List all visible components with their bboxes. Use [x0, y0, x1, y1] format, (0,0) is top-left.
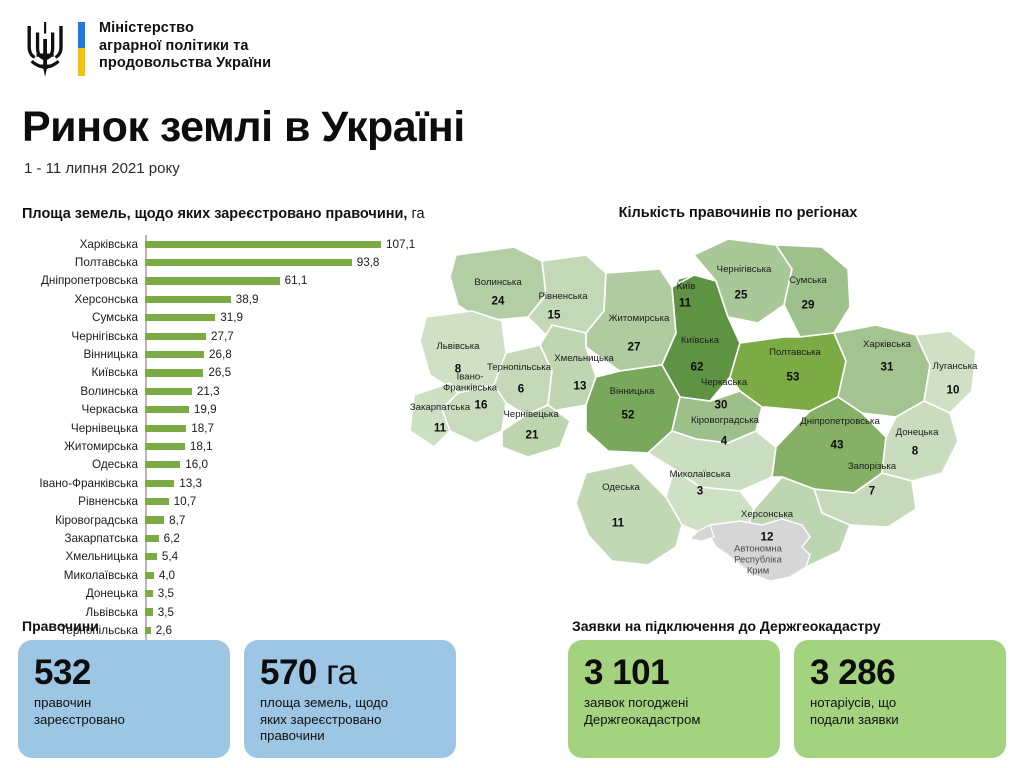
- approved-desc-2: Держгеокадастром: [584, 712, 764, 729]
- page-subtitle: 1 - 11 липня 2021 року: [24, 160, 180, 177]
- approved-desc-1: заявок погоджені: [584, 695, 764, 712]
- bar-row: Сумська31,9: [22, 309, 452, 327]
- bar-fill: [145, 369, 203, 376]
- bar-category-label: Харківська: [22, 238, 145, 251]
- bar-fill: [145, 480, 174, 487]
- deals-area-desc-1: площа земель, щодо: [260, 695, 440, 712]
- bar-fill: [145, 498, 169, 505]
- bar-track: 27,7: [145, 327, 452, 345]
- bar-value-label: 8,7: [169, 514, 185, 527]
- region-Сумська[interactable]: [776, 245, 850, 337]
- stat-card-deals-count-desc: правочин зареєстровано: [34, 695, 214, 728]
- bar-value-label: 19,9: [194, 403, 217, 416]
- bar-track: 18,1: [145, 437, 452, 455]
- bar-value-label: 27,7: [211, 330, 234, 343]
- bar-fill: [145, 535, 159, 542]
- bar-row: Київська26,5: [22, 364, 452, 382]
- region-Чернівецька[interactable]: [502, 405, 570, 457]
- crimea-line-1: Автономна: [734, 543, 782, 554]
- bar-track: 93,8: [145, 253, 452, 271]
- deals-area-number: 570: [260, 653, 317, 692]
- deals-area-desc-3: правочини: [260, 728, 440, 745]
- bar-track: 8,7: [145, 511, 452, 529]
- bar-category-label: Сумська: [22, 311, 145, 324]
- bar-value-label: 3,5: [158, 606, 174, 619]
- ministry-line-2: аграрної політики та: [99, 38, 271, 56]
- notaries-desc-2: подали заявки: [810, 712, 990, 729]
- region-Львівська[interactable]: [420, 311, 506, 393]
- bar-value-label: 18,7: [191, 422, 214, 435]
- bar-value-label: 93,8: [357, 256, 380, 269]
- bar-value-label: 26,8: [209, 348, 232, 361]
- bar-fill: [145, 461, 180, 468]
- bar-category-label: Херсонська: [22, 293, 145, 306]
- ukraine-trident-icon: [22, 20, 68, 78]
- bar-fill: [145, 314, 215, 321]
- bar-row: Чернігівська27,7: [22, 327, 452, 345]
- bar-category-label: Закарпатська: [22, 532, 145, 545]
- stat-card-approved-requests-desc: заявок погоджені Держгеокадастром: [584, 695, 764, 728]
- bar-track: 3,5: [145, 584, 452, 602]
- stat-card-deals-area-number: 570 га: [260, 654, 440, 692]
- bar-value-label: 31,9: [220, 311, 243, 324]
- deals-area-desc-2: яких зареєстровано: [260, 712, 440, 729]
- bar-value-label: 16,0: [185, 458, 208, 471]
- bar-category-label: Київська: [22, 366, 145, 379]
- bar-row: Херсонська38,9: [22, 290, 452, 308]
- bar-row: Харківська107,1: [22, 235, 452, 253]
- bar-track: 18,7: [145, 419, 452, 437]
- stat-card-approved-requests-number: 3 101: [584, 654, 764, 692]
- ukraine-choropleth-map: Автономна Республіка Крим Волинська24Рів…: [410, 225, 976, 615]
- bar-value-label: 21,3: [197, 385, 220, 398]
- bar-track: 5,4: [145, 548, 452, 566]
- bar-track: 38,9: [145, 290, 452, 308]
- bar-row: Дніпропетровська61,1: [22, 272, 452, 290]
- bar-category-label: Черкаська: [22, 403, 145, 416]
- bar-chart-heading-bold: Площа земель, щодо яких зареєстровано пр…: [22, 206, 407, 222]
- bar-category-label: Вінницька: [22, 348, 145, 361]
- bar-category-label: Дніпропетровська: [22, 274, 145, 287]
- ministry-line-1: Міністерство: [99, 20, 271, 38]
- cadastre-summary-cards: 3 101 заявок погоджені Держгеокадастром …: [568, 640, 1008, 758]
- bar-fill: [145, 277, 280, 284]
- bar-chart-heading: Площа земель, щодо яких зареєстровано пр…: [22, 205, 452, 223]
- bar-row: Миколаївська4,0: [22, 566, 452, 584]
- bar-fill: [145, 608, 153, 615]
- stat-card-notaries-desc: нотаріусів, що подали заявки: [810, 695, 990, 728]
- bar-category-label: Кіровоградська: [22, 514, 145, 527]
- bar-category-label: Львівська: [22, 606, 145, 619]
- bar-track: 19,9: [145, 401, 452, 419]
- bar-row: Рівненська10,7: [22, 492, 452, 510]
- ministry-name: Міністерство аграрної політики та продов…: [99, 20, 271, 73]
- deals-summary-cards: 532 правочин зареєстровано 570 га площа …: [18, 640, 488, 758]
- page-title: Ринок землі в Україні: [22, 103, 465, 152]
- bar-row: Волинська21,3: [22, 382, 452, 400]
- bar-category-label: Чернівецька: [22, 422, 145, 435]
- ukraine-flag-bar-icon: [78, 22, 85, 76]
- bar-row: Полтавська93,8: [22, 253, 452, 271]
- bar-track: 6,2: [145, 529, 452, 547]
- bar-fill: [145, 572, 154, 579]
- bar-value-label: 13,3: [179, 477, 202, 490]
- deals-count-desc-2: зареєстровано: [34, 712, 214, 729]
- bar-track: 4,0: [145, 566, 452, 584]
- crimea-line-3: Крим: [734, 565, 782, 576]
- bar-track: 31,9: [145, 309, 452, 327]
- stat-card-deals-count-number: 532: [34, 654, 214, 692]
- cadastre-summary-heading: Заявки на підключення до Держгеокадастру: [568, 618, 1008, 634]
- bar-row: Одеська16,0: [22, 456, 452, 474]
- bar-value-label: 6,2: [164, 532, 180, 545]
- bar-fill: [145, 516, 164, 523]
- bar-value-label: 3,5: [158, 587, 174, 600]
- stat-card-deals-area[interactable]: 570 га площа земель, щодо яких зареєстро…: [244, 640, 456, 758]
- bar-fill: [145, 406, 189, 413]
- bar-fill: [145, 259, 352, 266]
- cadastre-summary-section: Заявки на підключення до Держгеокадастру…: [568, 618, 1008, 758]
- bar-fill: [145, 443, 185, 450]
- bar-category-label: Івано-Франківська: [22, 477, 145, 490]
- bar-row: Хмельницька5,4: [22, 548, 452, 566]
- bar-category-label: Житомирська: [22, 440, 145, 453]
- bar-fill: [145, 388, 192, 395]
- crimea-label: Автономна Республіка Крим: [734, 543, 782, 576]
- bar-category-label: Миколаївська: [22, 569, 145, 582]
- deals-summary-section: Правочини 532 правочин зареєстровано 570…: [18, 618, 488, 758]
- bar-category-label: Хмельницька: [22, 550, 145, 563]
- bar-fill: [145, 241, 381, 248]
- infographic-page: Міністерство аграрної політики та продов…: [0, 0, 1024, 768]
- bar-row: Івано-Франківська13,3: [22, 474, 452, 492]
- map-heading: Кількість правочинів по регіонах: [458, 205, 1018, 221]
- bar-track: 61,1: [145, 272, 452, 290]
- ministry-line-3: продовольства України: [99, 55, 271, 73]
- bar-fill: [145, 351, 204, 358]
- bar-row: Донецька3,5: [22, 584, 452, 602]
- bar-row: Черкаська19,9: [22, 401, 452, 419]
- region-Волинська[interactable]: [450, 247, 546, 321]
- deals-area-unit: га: [317, 653, 357, 692]
- bar-category-label: Волинська: [22, 385, 145, 398]
- deals-count-desc-1: правочин: [34, 695, 214, 712]
- bar-category-label: Одеська: [22, 458, 145, 471]
- notaries-desc-1: нотаріусів, що: [810, 695, 990, 712]
- bar-fill: [145, 296, 231, 303]
- bar-value-label: 5,4: [162, 550, 178, 563]
- ministry-logo-block: Міністерство аграрної політики та продов…: [22, 20, 271, 78]
- stat-card-deals-count[interactable]: 532 правочин зареєстровано: [18, 640, 230, 758]
- bar-fill: [145, 590, 153, 597]
- bar-value-label: 38,9: [236, 293, 259, 306]
- bar-value-label: 4,0: [159, 569, 175, 582]
- map-svg: [410, 225, 976, 615]
- bar-row: Кіровоградська8,7: [22, 511, 452, 529]
- deals-summary-heading: Правочини: [18, 618, 488, 634]
- bar-fill: [145, 553, 157, 560]
- stat-card-notaries-number: 3 286: [810, 654, 990, 692]
- stat-card-notaries[interactable]: 3 286 нотаріусів, що подали заявки: [794, 640, 1006, 758]
- bar-fill: [145, 425, 186, 432]
- map-section: Кількість правочинів по регіонах Автоном…: [458, 205, 1018, 615]
- bar-value-label: 61,1: [285, 274, 308, 287]
- stat-card-deals-area-desc: площа земель, щодо яких зареєстровано пр…: [260, 695, 440, 745]
- bar-category-label: Полтавська: [22, 256, 145, 269]
- bar-track: 26,8: [145, 345, 452, 363]
- bar-fill: [145, 333, 206, 340]
- bar-value-label: 10,7: [174, 495, 197, 508]
- crimea-line-2: Республіка: [734, 554, 782, 565]
- bar-row: Закарпатська6,2: [22, 529, 452, 547]
- bar-row: Вінницька26,8: [22, 345, 452, 363]
- stat-card-approved-requests[interactable]: 3 101 заявок погоджені Держгеокадастром: [568, 640, 780, 758]
- bar-category-label: Донецька: [22, 587, 145, 600]
- bar-track: 16,0: [145, 456, 452, 474]
- bar-category-label: Чернігівська: [22, 330, 145, 343]
- bar-track: 107,1: [145, 235, 452, 253]
- bar-chart-heading-unit: га: [407, 206, 424, 222]
- bar-row: Житомирська18,1: [22, 437, 452, 455]
- bar-row: Чернівецька18,7: [22, 419, 452, 437]
- bar-track: 13,3: [145, 474, 452, 492]
- region-Одеська[interactable]: [576, 463, 682, 565]
- bar-value-label: 18,1: [190, 440, 213, 453]
- bar-category-label: Рівненська: [22, 495, 145, 508]
- bar-track: 10,7: [145, 492, 452, 510]
- bar-value-label: 26,5: [208, 366, 231, 379]
- bar-track: 26,5: [145, 364, 452, 382]
- bar-track: 21,3: [145, 382, 452, 400]
